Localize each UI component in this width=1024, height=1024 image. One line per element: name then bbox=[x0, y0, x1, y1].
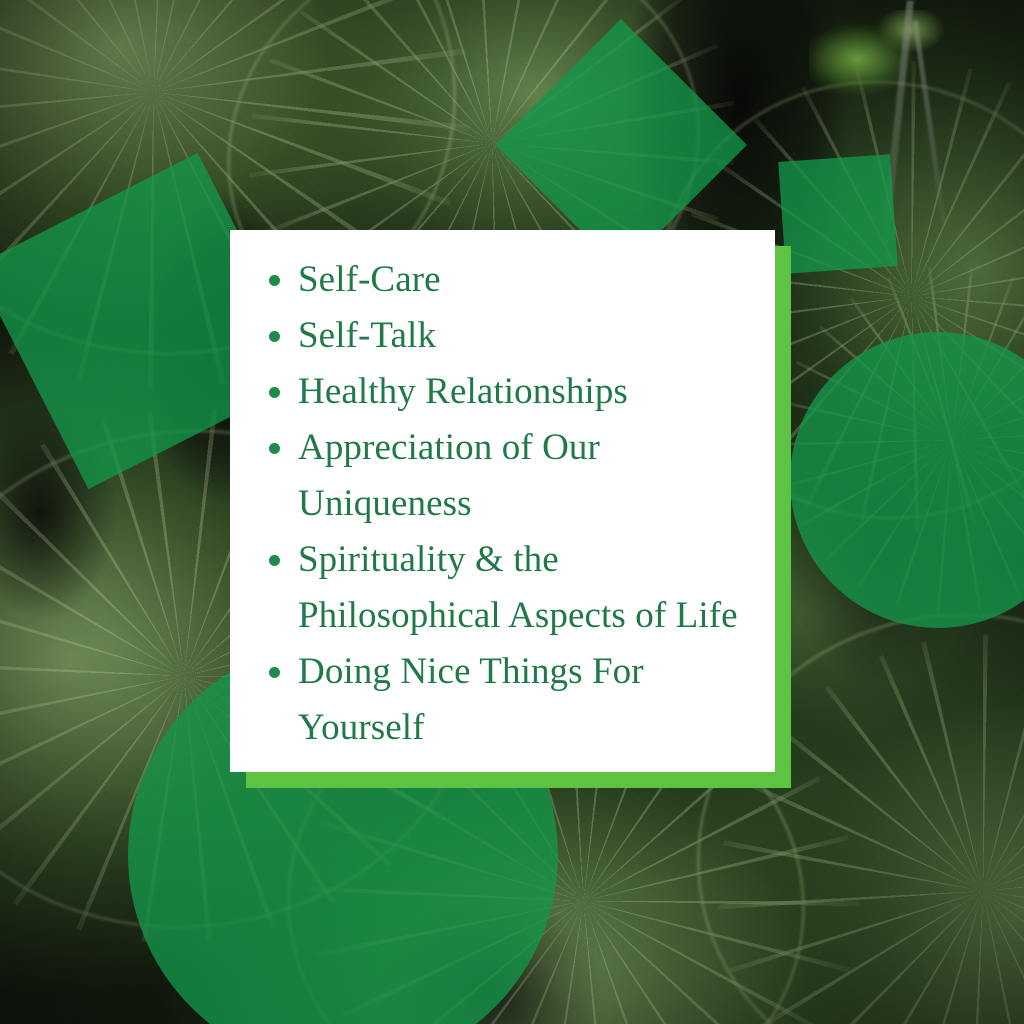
list-item-label: Self-Talk bbox=[298, 308, 757, 364]
list-item-label: Doing Nice Things For Yourself bbox=[298, 644, 757, 756]
list-item: Appreciation of Our Uniqueness bbox=[258, 420, 757, 532]
bullet-dot-icon bbox=[269, 555, 280, 566]
bullet-dot-icon bbox=[269, 387, 280, 398]
bullet-dot-icon bbox=[269, 275, 280, 286]
list-item: Self-Care bbox=[258, 252, 757, 308]
benefits-list: Self-Care Self-Talk Healthy Relationship… bbox=[258, 252, 757, 756]
list-item-label: Spirituality & the Philosophical Aspects… bbox=[298, 532, 757, 644]
list-item-label: Self-Care bbox=[298, 252, 757, 308]
poster-canvas: Self-Care Self-Talk Healthy Relationship… bbox=[0, 0, 1024, 1024]
bullet-dot-icon bbox=[269, 331, 280, 342]
list-item: Doing Nice Things For Yourself bbox=[258, 644, 757, 756]
content-card: Self-Care Self-Talk Healthy Relationship… bbox=[230, 230, 775, 772]
list-item: Self-Talk bbox=[258, 308, 757, 364]
decorative-shape-small-square-right bbox=[778, 154, 898, 274]
list-item-label: Appreciation of Our Uniqueness bbox=[298, 420, 757, 532]
bullet-dot-icon bbox=[269, 443, 280, 454]
list-item-label: Healthy Relationships bbox=[298, 364, 757, 420]
list-item: Healthy Relationships bbox=[258, 364, 757, 420]
list-item: Spirituality & the Philosophical Aspects… bbox=[258, 532, 757, 644]
bullet-dot-icon bbox=[269, 667, 280, 678]
